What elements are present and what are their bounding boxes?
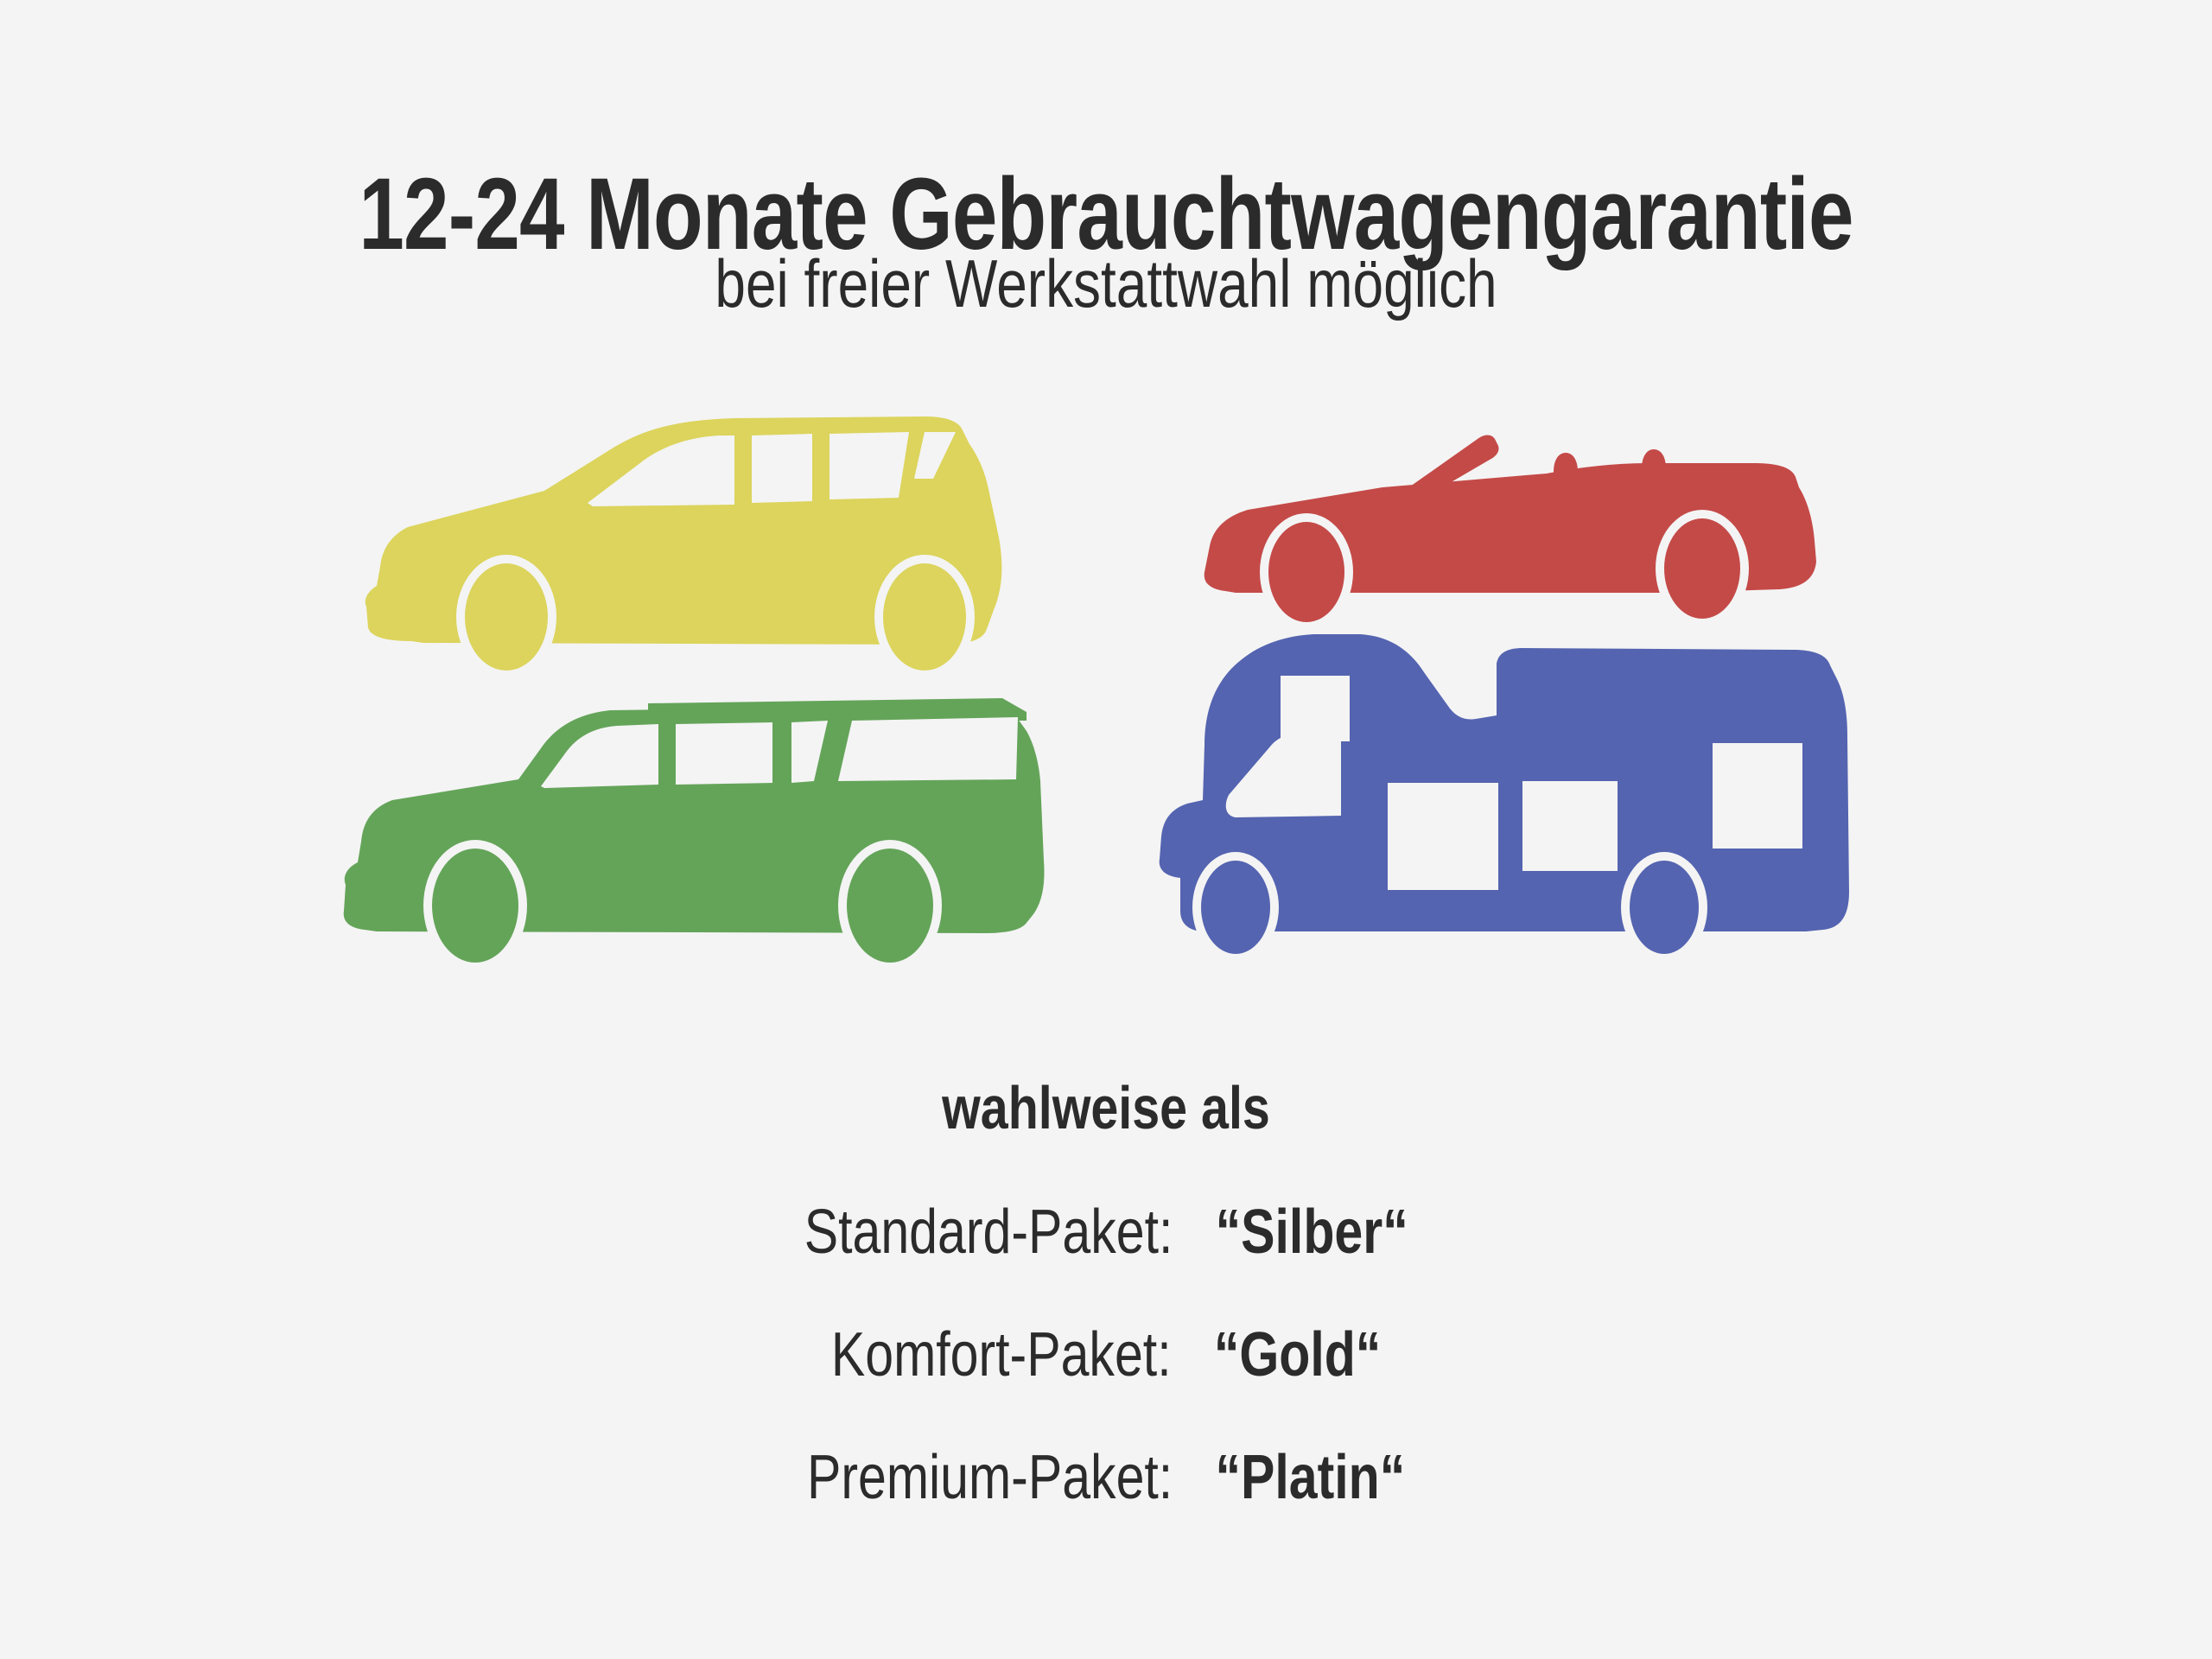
infographic-page: 12-24 Monate Gebrauchtwagengarantie bei … (0, 0, 2212, 1659)
page-subtitle: bei freier Werkstattwahl möglich (199, 249, 2012, 320)
package-row-standard: Standard-Paket: “Silber“ (0, 1201, 2212, 1324)
package-name-komfort: Komfort-Paket: (831, 1320, 1172, 1389)
motorhome-camper-icon (1149, 622, 1866, 968)
package-name-premium: Premium-Paket: (807, 1443, 1173, 1512)
package-row-komfort: Komfort-Paket: “Gold“ (0, 1324, 2212, 1446)
options-intro-label: wahlweise als (199, 1073, 2012, 1142)
package-tier-komfort: “Gold“ (1214, 1320, 1381, 1389)
package-tier-standard: “Silber“ (1215, 1198, 1408, 1267)
package-list: Standard-Paket: “Silber“ Komfort-Paket: … (0, 1201, 2212, 1569)
package-tier-premium: “Platin“ (1215, 1443, 1405, 1512)
package-name-standard: Standard-Paket: (804, 1198, 1173, 1267)
package-row-premium: Premium-Paket: “Platin“ (0, 1446, 2212, 1569)
hatchback-car-icon (328, 406, 1046, 683)
station-wagon-car-icon (320, 691, 1071, 976)
vehicle-illustration-group (0, 389, 2212, 1011)
convertible-car-icon (1184, 423, 1840, 639)
